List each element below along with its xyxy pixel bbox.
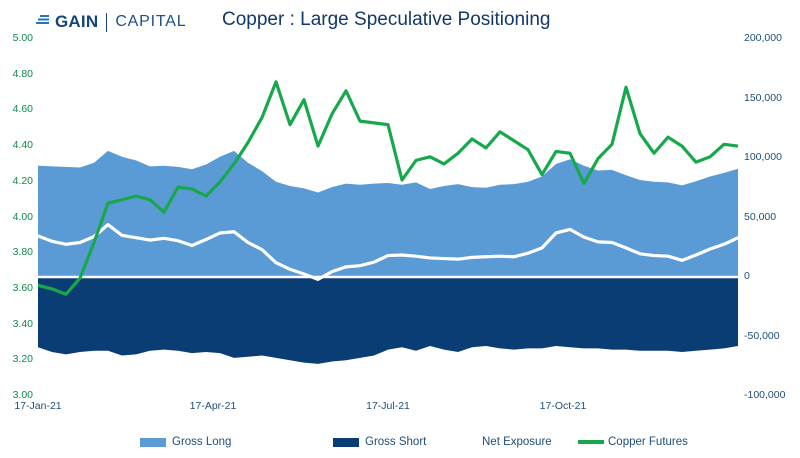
right-axis-tick: -100,000	[744, 390, 785, 401]
right-axis-tick: 100,000	[744, 152, 782, 163]
logo-gain-text: GAIN	[55, 12, 98, 32]
legend-item-copper-futures[interactable]: Copper Futures	[578, 432, 688, 452]
legend-line-marker	[452, 440, 478, 444]
gain-capital-logo: GAIN CAPITAL	[35, 12, 186, 32]
x-axis-tick: 17-Apr-21	[190, 401, 237, 412]
chart-legend: Gross LongGross ShortNet ExposureCopper …	[0, 432, 800, 454]
right-axis-tick: 150,000	[744, 93, 782, 104]
legend-label: Gross Long	[172, 436, 231, 448]
right-axis-tick: 0	[744, 271, 750, 282]
legend-item-gross-short[interactable]: Gross Short	[333, 432, 426, 452]
plot-svg	[38, 39, 738, 396]
x-axis-tick: 17-Jul-21	[366, 401, 410, 412]
chart-container: GAIN CAPITAL Copper : Large Speculative …	[0, 0, 800, 458]
x-axis-tick: 17-Oct-21	[540, 401, 587, 412]
gross-short-area	[38, 277, 738, 364]
legend-item-gross-long[interactable]: Gross Long	[140, 432, 231, 452]
left-axis-tick: 4.20	[13, 176, 33, 187]
legend-label: Net Exposure	[482, 436, 552, 448]
gross-long-area	[38, 151, 738, 277]
right-axis: -100,000-50,000050,000100,000150,000200,…	[744, 0, 800, 458]
stepped-bars-icon	[35, 12, 51, 33]
left-axis-tick: 4.00	[13, 212, 33, 223]
page-title: Copper : Large Speculative Positioning	[222, 9, 550, 31]
plot-area	[38, 39, 738, 396]
legend-label: Copper Futures	[608, 436, 688, 448]
chart-header: GAIN CAPITAL Copper : Large Speculative …	[0, 0, 800, 40]
left-axis: 3.003.203.403.603.804.004.204.404.604.80…	[0, 0, 33, 458]
left-axis-tick: 3.80	[13, 247, 33, 258]
right-axis-tick: 200,000	[744, 33, 782, 44]
legend-line-marker	[578, 440, 604, 444]
right-axis-tick: 50,000	[744, 212, 776, 223]
left-axis-tick: 3.20	[13, 354, 33, 365]
legend-swatch-marker	[333, 438, 359, 447]
left-axis-tick: 4.40	[13, 140, 33, 151]
right-axis-tick: -50,000	[744, 331, 780, 342]
logo-divider	[106, 13, 107, 32]
logo-capital-text: CAPITAL	[115, 13, 186, 31]
left-axis-tick: 5.00	[13, 33, 33, 44]
left-axis-tick: 4.60	[13, 104, 33, 115]
left-axis-tick: 3.60	[13, 283, 33, 294]
left-axis-tick: 4.80	[13, 69, 33, 80]
legend-label: Gross Short	[365, 436, 426, 448]
left-axis-tick: 3.40	[13, 319, 33, 330]
legend-item-net-exposure[interactable]: Net Exposure	[452, 432, 552, 452]
x-axis-tick: 17-Jan-21	[14, 401, 61, 412]
legend-swatch-marker	[140, 438, 166, 447]
x-axis: 17-Jan-2117-Apr-2117-Jul-2117-Oct-21	[0, 401, 800, 419]
